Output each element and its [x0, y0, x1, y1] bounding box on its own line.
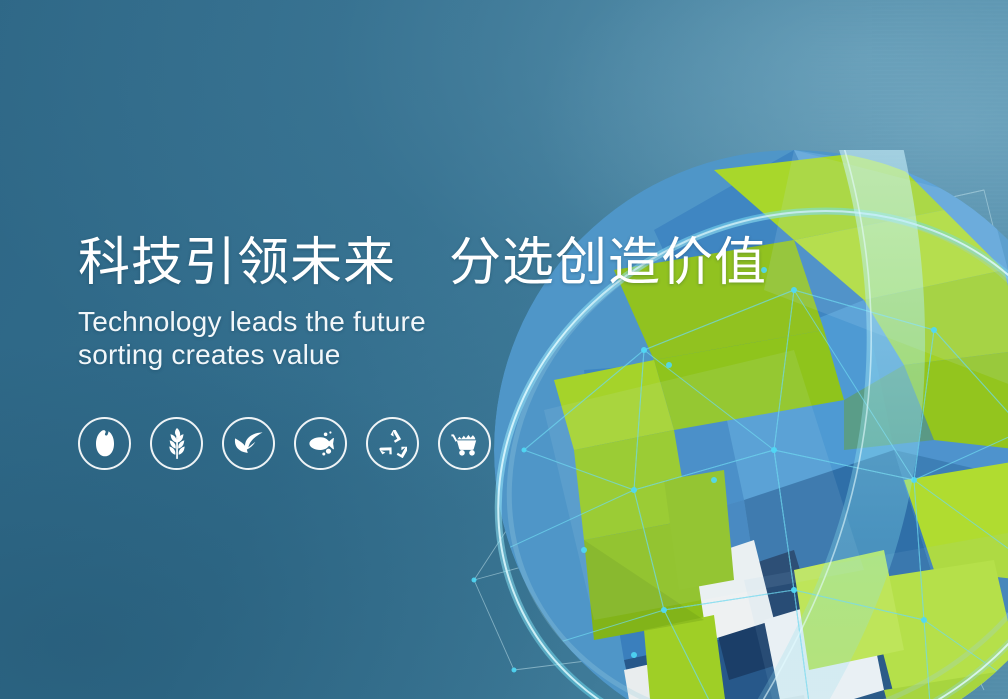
subtitle-line-1: Technology leads the future — [78, 306, 426, 337]
mine-cart-icon[interactable] — [438, 417, 491, 470]
leaf-icon[interactable] — [222, 417, 275, 470]
recycle-icon[interactable] — [366, 417, 419, 470]
wheat-icon[interactable] — [150, 417, 203, 470]
low-poly-globe-graphic — [464, 150, 1008, 699]
hero-text-block: 科技引领未来 分选创造价值 Technology leads the futur… — [78, 236, 778, 371]
fish-icon[interactable] — [294, 417, 347, 470]
subtitle-line-2: sorting creates value — [78, 338, 778, 371]
page-title: 科技引领未来 分选创造价值 — [78, 236, 778, 291]
industry-icon-row — [78, 417, 491, 470]
seed-icon[interactable] — [78, 417, 131, 470]
hero-banner: 科技引领未来 分选创造价值 Technology leads the futur… — [0, 0, 1008, 699]
page-subtitle: Technology leads the future sorting crea… — [78, 305, 778, 371]
